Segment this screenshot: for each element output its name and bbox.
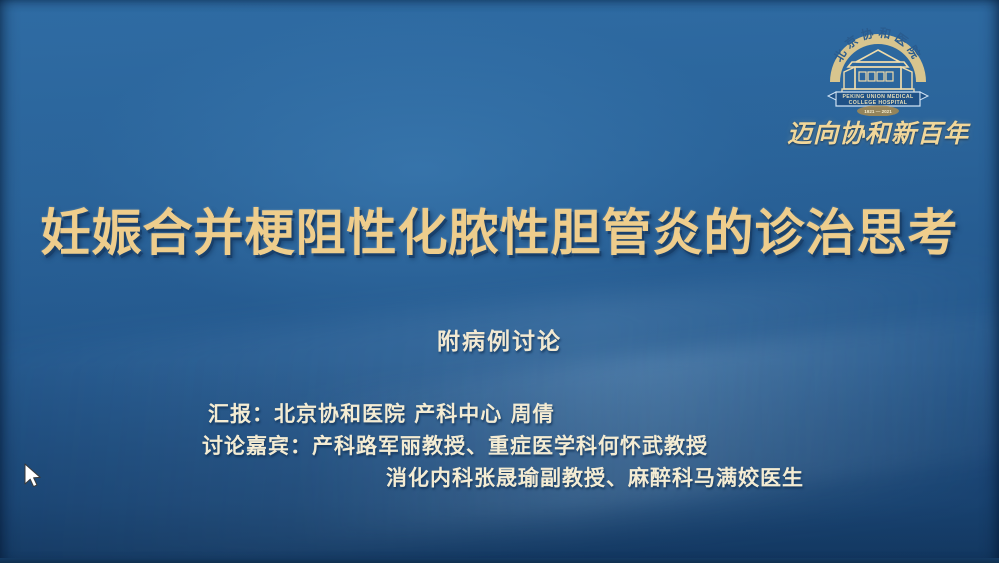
credit-panel-line-two: 消化内科张晟瑜副教授、麻醉科马满姣医生 [0, 462, 999, 494]
page-title: 妊娠合并梗阻性化脓性胆管炎的诊治思考 [0, 204, 999, 262]
hospital-logo: 北京协和医院 PEK [778, 12, 978, 152]
credit-panel-line-one: 讨论嘉宾：产科路军丽教授、重症医学科何怀武教授 [0, 430, 999, 462]
svg-text:北京协和医院: 北京协和医院 [830, 24, 926, 64]
slide-subtitle: 附病例讨论 [0, 322, 999, 356]
hospital-building-icon: 北京协和医院 PEK [822, 12, 934, 116]
presentation-slide: 北京协和医院 PEK [0, 0, 999, 563]
bottom-edge-strip [0, 558, 999, 563]
credit-reporter: 汇报：北京协和医院 产科中心 周倩 [0, 398, 999, 430]
credits-block: 汇报：北京协和医院 产科中心 周倩 讨论嘉宾：产科路军丽教授、重症医学科何怀武教… [0, 398, 999, 494]
svg-text:COLLEGE HOSPITAL: COLLEGE HOSPITAL [849, 100, 908, 106]
logo-tagline: 迈向协和新百年 [778, 114, 978, 150]
